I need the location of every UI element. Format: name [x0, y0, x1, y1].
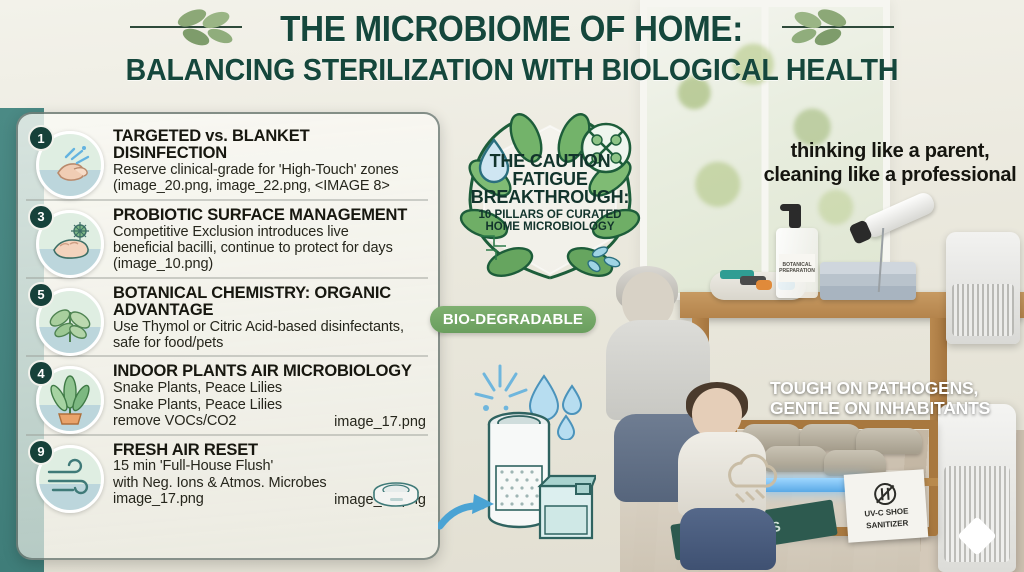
- pillar-title: TARGETED vs. BLANKET DISINFECTION: [113, 128, 426, 162]
- pillar-icon-wrap: 1: [28, 127, 104, 195]
- pillar-text: BOTANICAL CHEMISTRY: ORGANIC ADVANTAGE U…: [113, 284, 426, 352]
- pillar-desc-line1: Snake Plants, Peace Lilies: [113, 381, 426, 396]
- poster-title: THE MICROBIOME OF HOME: BALANCING STERIL…: [0, 8, 1024, 88]
- uv-sign-line1: UV-C SHOE: [864, 507, 909, 520]
- pillar-row[interactable]: 5 BOTANICAL CHEMISTRY: ORGANIC ADVANTAGE…: [26, 279, 428, 358]
- child-legs: [680, 508, 776, 570]
- pillar-desc-line2: safe for food/pets: [113, 336, 426, 351]
- pillar-title: INDOOR PLANTS AIR MICROBIOLOGY: [113, 363, 426, 380]
- title-subtitle-text: BALANCING STERILIZATION WITH BIOLOGICAL …: [41, 52, 983, 88]
- pillar-image-ref: image_17.png: [334, 414, 426, 430]
- uv-sign-line2: SANITIZER: [866, 518, 909, 531]
- bio-degradable-badge: BIO-DEGRADABLE: [430, 306, 596, 333]
- uv-c-sanitizer-sign: UV-C SHOE SANITIZER: [844, 469, 929, 542]
- pillar-number-badge: 5: [28, 282, 54, 308]
- pillar-desc-line1: 15 min 'Full-House Flush': [113, 459, 426, 474]
- pillar-desc-line1: Reserve clinical-grade for 'High-Touch' …: [113, 163, 426, 178]
- air-purifier-table: [946, 232, 1020, 344]
- pillar-text: PROBIOTIC SURFACE MANAGEMENT Competitive…: [113, 206, 426, 273]
- pillar-title: FRESH AIR RESET: [113, 442, 426, 459]
- pillar-desc-line1: Competitive Exclusion introduces live: [113, 225, 426, 240]
- pillar-icon-wrap: 5: [28, 284, 104, 352]
- pillar-desc-line3: image_17.png: [113, 492, 204, 507]
- overlay-text-top-right: thinking like a parent, cleaning like a …: [760, 140, 1020, 187]
- pillar-icon-wrap: 9: [28, 441, 104, 508]
- pillar-number-badge: 1: [28, 125, 54, 151]
- pillar-number-badge: 3: [28, 204, 54, 230]
- leaf-branch-right-icon: [774, 9, 894, 49]
- pillar-desc-line3: remove VOCs/CO2: [113, 414, 236, 429]
- bottle-label: BOTANICAL PREPARATION: [779, 254, 815, 282]
- pillar-title: BOTANICAL CHEMISTRY: ORGANIC ADVANTAGE: [113, 285, 426, 319]
- pillar-desc-line2: Snake Plants, Peace Lilies: [113, 398, 426, 413]
- pillar-row[interactable]: 9 FRESH AIR RESET 15 min 'Full-House Flu…: [26, 436, 428, 512]
- soap-dispenser-bottle: BOTANICAL PREPARATION: [776, 228, 818, 298]
- overlay-mid-line1: TOUGH ON PATHOGENS,: [770, 378, 1020, 398]
- emblem-heading: THE CAUTION FATIGUE BREAKTHROUGH:: [465, 152, 635, 206]
- infographic-poster: BOTANICAL PREPARATION UV-C SHOE SANITIZE…: [0, 0, 1024, 572]
- emblem-text-block: THE CAUTION FATIGUE BREAKTHROUGH: 10 PIL…: [465, 152, 635, 234]
- dust-cloud-icon: [714, 448, 784, 515]
- illustrated-water-container: [536, 470, 596, 544]
- pillar-row[interactable]: 3 PROBIOTIC SURFACE MANAGEMENT Competiti…: [26, 201, 428, 279]
- bio-degradable-label: BIO-DEGRADABLE: [443, 311, 583, 328]
- overlay-top-line1: thinking like a parent,: [760, 140, 1020, 164]
- no-germs-icon: [870, 481, 900, 507]
- emblem-subheading: 10 PILLARS OF CURATED HOME MICROBIOLOGY: [465, 209, 635, 234]
- pillar-text: INDOOR PLANTS AIR MICROBIOLOGY Snake Pla…: [113, 362, 426, 429]
- bottle-label-line2: PREPARATION: [779, 268, 815, 274]
- overlay-text-mid-right: TOUGH ON PATHOGENS, GENTLE ON INHABITANT…: [770, 378, 1020, 418]
- pillar-number-badge: 9: [28, 439, 54, 465]
- pillar-row[interactable]: 1 TARGETED vs. BLANKET DISINFECTION Rese…: [26, 122, 428, 201]
- sponge-orange-icon: [756, 280, 772, 290]
- pillar-text: TARGETED vs. BLANKET DISINFECTION Reserv…: [113, 127, 426, 195]
- flow-arrow-icon: [438, 492, 498, 539]
- pillar-footer: remove VOCs/CO2 image_17.png: [113, 413, 426, 429]
- overlay-mid-line2: GENTLE ON INHABITANTS: [770, 398, 1020, 418]
- pillar-desc-line1: Use Thymol or Citric Acid-based disinfec…: [113, 320, 426, 335]
- robot-vacuum-group: [370, 480, 426, 510]
- pillar-title: PROBIOTIC SURFACE MANAGEMENT: [113, 207, 426, 224]
- pillar-icon-wrap: 4: [28, 362, 104, 429]
- robot-vacuum-icon: [370, 480, 426, 510]
- pillar-desc-line2: beneficial bacilli, continue to protect …: [113, 241, 426, 256]
- air-purifier-floor: [938, 404, 1016, 572]
- pillars-panel: 1 TARGETED vs. BLANKET DISINFECTION Rese…: [16, 112, 440, 560]
- pillar-row[interactable]: 4 INDOOR PLANTS AIR MICROBIOLOGY Snake P…: [26, 357, 428, 435]
- pump-head-icon: [789, 204, 801, 228]
- overlay-top-line2: cleaning like a professional: [760, 164, 1020, 188]
- pillar-icon-wrap: 3: [28, 206, 104, 273]
- title-line1-row: THE MICROBIOME OF HOME:: [0, 8, 1024, 50]
- pillar-desc-line2: (image_20.png, image_22.png, <IMAGE 8>: [113, 179, 426, 194]
- leaf-branch-left-icon: [130, 9, 250, 49]
- center-emblem: THE CAUTION FATIGUE BREAKTHROUGH: 10 PIL…: [440, 104, 660, 314]
- title-main-text: THE MICROBIOME OF HOME:: [281, 8, 744, 50]
- pillar-desc-line3: (image_10.png): [113, 257, 426, 272]
- folded-towels: [820, 262, 916, 300]
